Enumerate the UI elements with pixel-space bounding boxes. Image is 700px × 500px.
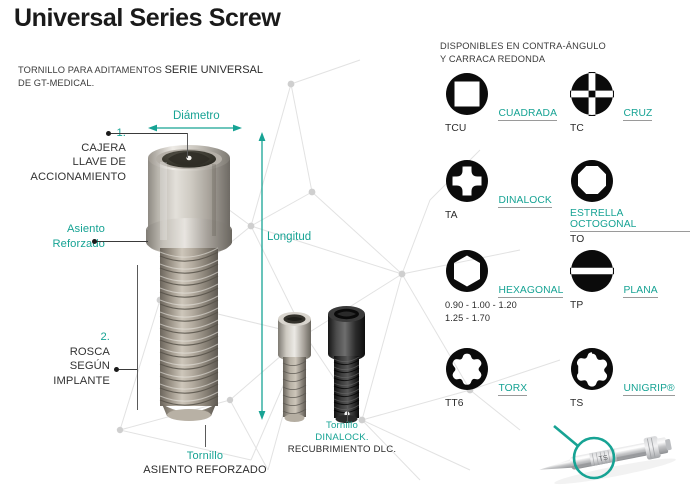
page-title: Universal Series Screw — [14, 4, 280, 33]
panel-header-line1: DISPONIBLES EN CONTRA-ÁNGULO — [440, 41, 606, 51]
subtitle: TORNILLO PARA ADITAMENTOS SERIE UNIVERSA… — [18, 64, 263, 89]
callout-rosca: 2. ROSCA SEGÚN IMPLANTE — [0, 330, 110, 388]
caption-dlc-screw: Tornillo DINALOCK. RECUBRIMIENTO DLC. — [282, 420, 402, 456]
drive-name: DINALOCK — [498, 195, 551, 208]
drive-code: TT6 — [445, 398, 565, 409]
callout-cajera-line2: LLAVE DE — [73, 156, 126, 168]
drive-item-plana[interactable]: PLANA TP — [565, 249, 690, 347]
caption-main-screw-dark: ASIENTO REFORZADO — [143, 464, 267, 476]
callout-rosca-leader — [119, 369, 137, 370]
callout-rosca-line2: SEGÚN — [70, 360, 110, 372]
drive-item-torx[interactable]: TORX TT6 — [440, 347, 565, 407]
torx-drive-icon — [445, 347, 489, 391]
drive-item-cruz[interactable]: CRUZ TC — [565, 72, 690, 159]
drive-item-dinalock[interactable]: DINALOCK TA — [440, 159, 565, 249]
drive-code-extra: 1.25 - 1.70 — [445, 313, 565, 324]
unigrip-drive-icon — [570, 347, 614, 391]
drive-name: HEXAGONAL — [498, 285, 563, 298]
drive-row: DINALOCK TA ESTRELLA OCTOGONAL TO — [440, 159, 690, 249]
panel-header-line2: Y CARRACA REDONDA — [440, 54, 545, 64]
caption-main-screw: Tornillo ASIENTO REFORZADO — [110, 449, 300, 477]
caption-main-screw-leader — [205, 425, 206, 447]
drive-code: TO — [570, 234, 690, 245]
callout-asiento-line2: Reforzado — [52, 238, 105, 250]
drive-name: CUADRADA — [498, 108, 557, 121]
slot-drive-icon — [570, 249, 614, 293]
hexagon-drive-icon — [445, 249, 489, 293]
drive-name: PLANA — [623, 285, 657, 298]
octagon-drive-icon — [570, 159, 614, 203]
drive-code: TP — [570, 300, 690, 311]
diameter-dimension-label: Diámetro — [173, 110, 220, 122]
diameter-dimension-arrow — [148, 123, 242, 133]
drive-name: TORX — [498, 383, 527, 396]
drive-name: ESTRELLA OCTOGONAL — [570, 208, 690, 232]
callout-cajera-line1: CAJERA — [81, 142, 126, 154]
caption-dlc-leader — [347, 406, 348, 422]
callout-asiento: Asiento Reforzado — [0, 222, 105, 251]
callout-asiento-line1: Asiento — [67, 223, 105, 235]
callout-cajera-line3: ACCIONAMIENTO — [30, 171, 126, 183]
length-dimension-arrow — [257, 132, 267, 420]
callout-cajera-leader — [111, 133, 187, 134]
drive-item-estrella-octogonal[interactable]: ESTRELLA OCTOGONAL TO — [565, 159, 690, 249]
callout-rosca-bracket — [137, 265, 138, 410]
panel-header: DISPONIBLES EN CONTRA-ÁNGULO Y CARRACA R… — [440, 40, 606, 65]
cross-drive-icon — [570, 72, 614, 116]
drive-types-grid: CUADRADA TCU CRUZ TC DINALOCK TA — [440, 72, 690, 407]
drive-row: HEXAGONAL 0.90 - 1.00 - 1.20 1.25 - 1.70… — [440, 249, 690, 347]
caption-dlc-teal-1: Tornillo — [326, 420, 358, 431]
drive-item-unigrip[interactable]: UNIGRIP® TS — [565, 347, 690, 407]
drive-code: 0.90 - 1.00 - 1.20 — [445, 300, 565, 311]
callout-cajera-leader-vertical — [187, 133, 188, 158]
subtitle-strong: SERIE UNIVERSAL — [165, 64, 263, 76]
dinalock-drive-icon — [445, 159, 489, 203]
tool-callout-leader — [554, 426, 578, 446]
subtitle-line2: DE GT-MEDICAL. — [18, 78, 94, 88]
main-screw-illustration — [128, 130, 268, 430]
drive-row: TORX TT6 UNIGRIP® TS — [440, 347, 690, 407]
square-drive-icon — [445, 72, 489, 116]
callout-rosca-line3: IMPLANTE — [53, 375, 110, 387]
caption-dlc-teal-2: DINALOCK. — [315, 432, 369, 443]
caption-dlc-dark: RECUBRIMIENTO DLC. — [288, 444, 396, 455]
poster-canvas: Universal Series Screw TORNILLO PARA ADI… — [0, 0, 700, 500]
callout-rosca-number: 2. — [100, 331, 110, 343]
drive-row: CUADRADA TCU CRUZ TC — [440, 72, 690, 159]
callout-asiento-leader — [97, 241, 148, 242]
drive-code: TA — [445, 210, 565, 221]
drive-code: TS — [570, 398, 690, 409]
subtitle-pre: TORNILLO PARA ADITAMENTOS — [18, 65, 162, 75]
driver-tool-illustration: TS — [520, 412, 700, 500]
drive-code: TCU — [445, 123, 565, 134]
drive-code: TC — [570, 123, 690, 134]
drive-name: CRUZ — [623, 108, 652, 121]
callout-rosca-line1: ROSCA — [70, 346, 110, 358]
caption-main-screw-teal: Tornillo — [187, 450, 223, 462]
length-dimension-label: Longitud — [267, 231, 311, 243]
drive-item-cuadrada[interactable]: CUADRADA TCU — [440, 72, 565, 159]
small-screw-steel-illustration — [268, 305, 323, 430]
drive-item-hexagonal[interactable]: HEXAGONAL 0.90 - 1.00 - 1.20 1.25 - 1.70 — [440, 249, 565, 347]
drive-name: UNIGRIP® — [623, 383, 674, 396]
